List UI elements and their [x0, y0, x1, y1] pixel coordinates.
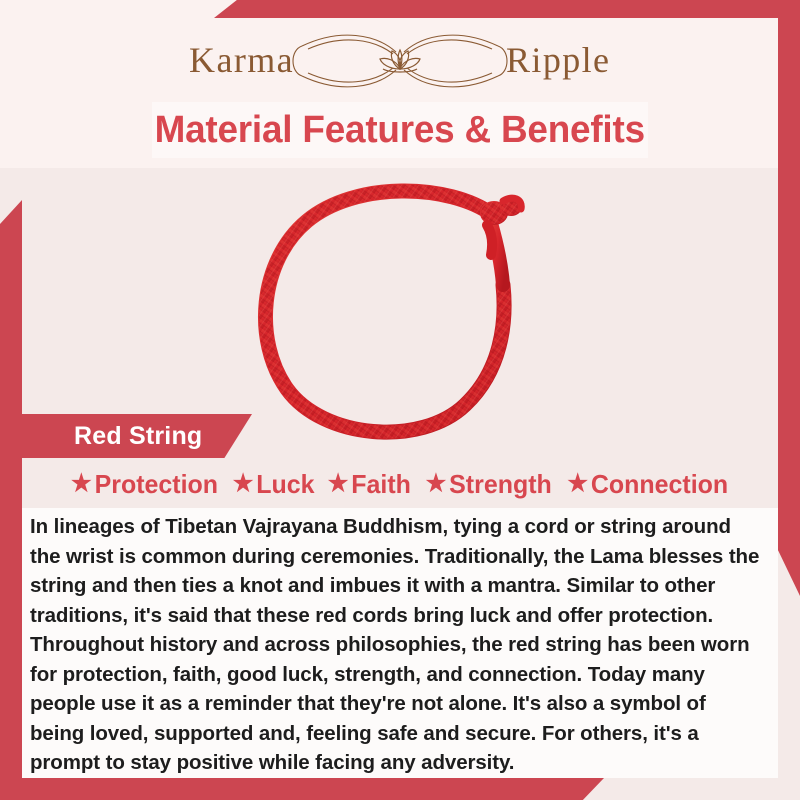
benefit-item-strength: ★ Strength	[422, 469, 556, 500]
description-text: In lineages of Tibetan Vajrayana Buddhis…	[30, 512, 764, 778]
benefit-label: Luck	[256, 469, 314, 500]
decorative-bar-top	[214, 0, 800, 18]
benefit-item-faith: ★ Faith	[324, 469, 415, 500]
material-name: Red String	[74, 422, 202, 451]
description-card: In lineages of Tibetan Vajrayana Buddhis…	[22, 508, 778, 778]
star-icon: ★	[233, 472, 254, 496]
infographic-page: Karma Ripple Material Features & Benefit…	[0, 0, 800, 800]
star-icon: ★	[328, 472, 349, 496]
benefit-label: Connection	[591, 469, 728, 500]
red-braided-cord-bracelet-icon	[235, 173, 565, 453]
benefits-row: ★ Protection ★ Luck ★ Faith ★ Strength ★…	[22, 462, 778, 506]
lotus-flourish-icon: Karma Ripple	[190, 30, 610, 92]
page-title-band: Material Features & Benefits	[152, 102, 648, 158]
benefit-item-connection: ★ Connection	[564, 469, 732, 500]
benefit-label: Faith	[352, 469, 412, 500]
star-icon: ★	[426, 472, 447, 496]
decorative-bar-left	[0, 200, 22, 800]
benefit-label: Protection	[95, 469, 218, 500]
brand-logo: Karma Ripple	[0, 26, 800, 96]
star-icon: ★	[568, 472, 589, 496]
decorative-bar-bottom	[0, 778, 604, 800]
benefit-label: Strength	[449, 469, 552, 500]
star-icon: ★	[71, 472, 92, 496]
benefit-item-protection: ★ Protection	[67, 469, 222, 500]
benefit-item-luck: ★ Luck	[229, 469, 318, 500]
page-title: Material Features & Benefits	[155, 109, 645, 152]
material-ribbon: Red String	[22, 414, 252, 458]
brand-name-second: Ripple	[506, 40, 610, 80]
brand-name-first: Karma	[190, 40, 294, 80]
